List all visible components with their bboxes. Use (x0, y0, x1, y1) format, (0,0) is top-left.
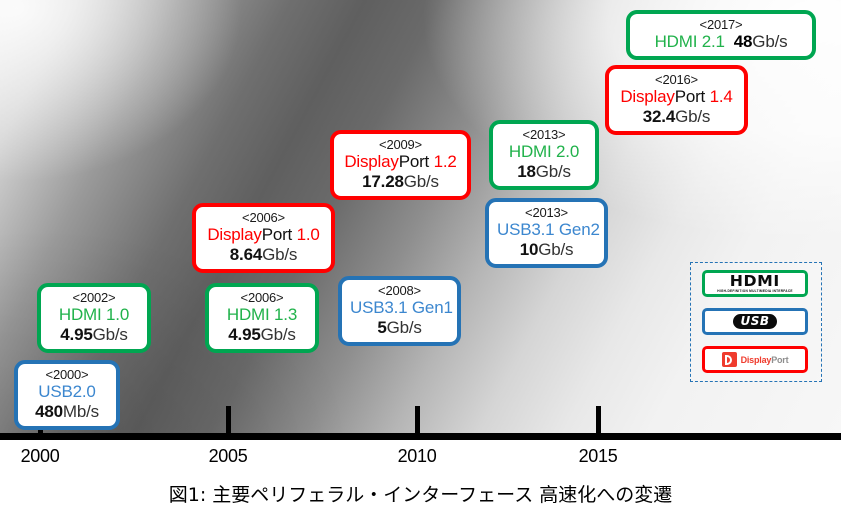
node-name-display: Display (344, 152, 398, 171)
node-name: DisplayPort 1.4 (617, 87, 736, 107)
node-name: USB3.1 Gen2 (497, 220, 596, 240)
axis-label-2010: 2010 (398, 446, 437, 467)
node-year: <2006> (204, 210, 323, 225)
node-speed-unit: Gb/s (538, 240, 573, 259)
node-speed: 32.4Gb/s (617, 107, 736, 127)
displayport-d-glyph (722, 352, 737, 367)
node-usb2-0[interactable]: <2000> USB2.0 480Mb/s (14, 360, 120, 430)
node-displayport-1-4[interactable]: <2016> DisplayPort 1.4 32.4Gb/s (605, 65, 748, 135)
node-year: <2017> (638, 17, 804, 32)
node-speed-value: 18 (517, 162, 536, 181)
node-hdmi-1-0[interactable]: <2002> HDMI 1.0 4.95Gb/s (37, 283, 151, 353)
node-displayport-1-0[interactable]: <2006> DisplayPort 1.0 8.64Gb/s (192, 203, 335, 273)
node-speed-unit: Gb/s (404, 172, 439, 191)
hdmi-tagline: HIGH-DEFINITION MULTIMEDIA INTERFACE (717, 290, 793, 293)
node-name-version: 1.4 (705, 87, 733, 106)
node-speed-value: 5 (377, 318, 386, 337)
node-speed-unit: Mb/s (63, 402, 99, 421)
hdmi-wordmark: HDMI (730, 274, 780, 289)
node-name: HDMI 2.1 (655, 32, 725, 51)
node-name: HDMI 1.0 (49, 305, 139, 325)
legend-item-hdmi[interactable]: HDMI HIGH-DEFINITION MULTIMEDIA INTERFAC… (702, 270, 808, 297)
node-hdmi-2-1[interactable]: <2017> HDMI 2.148Gb/s (626, 10, 816, 60)
node-year: <2008> (350, 283, 449, 298)
node-speed-unit: Gb/s (387, 318, 422, 337)
node-year: <2013> (497, 205, 596, 220)
node-speed: 4.95Gb/s (217, 325, 307, 345)
timeline-axis (0, 433, 841, 440)
axis-label-2015: 2015 (579, 446, 618, 467)
node-year: <2016> (617, 72, 736, 87)
legend-item-usb[interactable]: USB (702, 308, 808, 335)
node-speed-value: 17.28 (362, 172, 404, 191)
node-usb3-1-gen2[interactable]: <2013> USB3.1 Gen2 10Gb/s (485, 198, 608, 268)
node-name-port: Port (675, 87, 705, 106)
node-speed-unit: Gb/s (536, 162, 571, 181)
node-name-port: Port (262, 225, 292, 244)
node-name-port: Port (399, 152, 429, 171)
node-name-display: Display (620, 87, 674, 106)
node-name-version: 1.2 (429, 152, 457, 171)
axis-tick-2005 (226, 406, 231, 436)
hdmi-logo-icon: HDMI HIGH-DEFINITION MULTIMEDIA INTERFAC… (717, 274, 793, 293)
displayport-logo-icon: DisplayPort (722, 352, 789, 367)
displayport-wordmark: DisplayPort (741, 355, 789, 365)
node-displayport-1-2[interactable]: <2009> DisplayPort 1.2 17.28Gb/s (330, 130, 471, 200)
node-hdmi-2-0[interactable]: <2013> HDMI 2.0 18Gb/s (489, 120, 599, 190)
node-speed-value: 10 (520, 240, 539, 259)
displayport-word-port: Port (771, 355, 788, 365)
node-speed-value: 32.4 (643, 107, 675, 126)
legend-item-displayport[interactable]: DisplayPort (702, 346, 808, 373)
node-speed-value: 8.64 (230, 245, 262, 264)
node-speed: 5Gb/s (350, 318, 449, 338)
node-year: <2006> (217, 290, 307, 305)
node-speed-unit: Gb/s (93, 325, 128, 344)
node-usb3-1-gen1[interactable]: <2008> USB3.1 Gen1 5Gb/s (338, 276, 461, 346)
node-speed-value: 4.95 (60, 325, 92, 344)
node-speed: 10Gb/s (497, 240, 596, 260)
node-speed-unit: Gb/s (675, 107, 710, 126)
axis-label-2000: 2000 (21, 446, 60, 467)
node-name: HDMI 1.3 (217, 305, 307, 325)
axis-tick-2010 (415, 406, 420, 436)
node-hdmi-1-3[interactable]: <2006> HDMI 1.3 4.95Gb/s (205, 283, 319, 353)
figure-root: 2000 2005 2010 2015 <2000> USB2.0 480Mb/… (0, 0, 841, 520)
node-year: <2013> (501, 127, 587, 142)
axis-tick-2015 (596, 406, 601, 436)
usb-logo-icon: USB (733, 314, 776, 330)
node-year: <2009> (342, 137, 459, 152)
node-year: <2002> (49, 290, 139, 305)
node-speed: 8.64Gb/s (204, 245, 323, 265)
node-name: USB3.1 Gen1 (350, 298, 449, 318)
figure-caption: 図1: 主要ペリフェラル・インターフェース 高速化への変遷 (0, 480, 841, 507)
legend-panel: HDMI HIGH-DEFINITION MULTIMEDIA INTERFAC… (690, 262, 822, 382)
node-speed: 18Gb/s (501, 162, 587, 182)
node-speed-value: 48 (734, 32, 753, 51)
node-name: USB2.0 (26, 382, 108, 402)
node-speed-unit: Gb/s (262, 245, 297, 264)
node-name: HDMI 2.0 (501, 142, 587, 162)
node-speed: 4.95Gb/s (49, 325, 139, 345)
node-speed-value: 4.95 (228, 325, 260, 344)
node-speed-value: 480 (35, 402, 63, 421)
node-speed-unit: Gb/s (261, 325, 296, 344)
node-name-display: Display (207, 225, 261, 244)
node-name-version: 1.0 (292, 225, 320, 244)
displayport-word-display: Display (741, 355, 772, 365)
node-name: DisplayPort 1.2 (342, 152, 459, 172)
node-speed: 17.28Gb/s (342, 172, 459, 192)
axis-label-2005: 2005 (209, 446, 248, 467)
node-speed: 480Mb/s (26, 402, 108, 422)
node-year: <2000> (26, 367, 108, 382)
node-name: DisplayPort 1.0 (204, 225, 323, 245)
node-speed-unit: Gb/s (752, 32, 787, 51)
node-name-speed-line: HDMI 2.148Gb/s (638, 32, 804, 52)
